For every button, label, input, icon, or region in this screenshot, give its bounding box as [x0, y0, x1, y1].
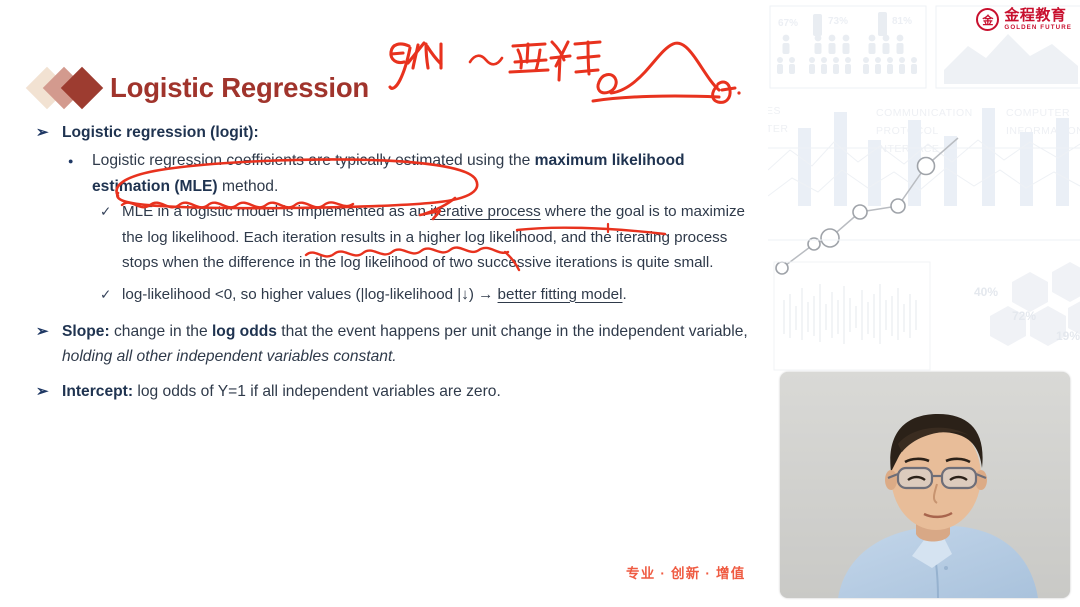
handwriting-bell-curve — [593, 43, 741, 102]
bullet-text: Slope: change in the log odds that the e… — [62, 323, 748, 365]
svg-text:INTERFACE: INTERFACE — [876, 143, 939, 155]
bullet-intercept: ➢ Intercept: log odds of Y=1 if all inde… — [30, 379, 760, 404]
svg-text:PROTOCOL: PROTOCOL — [876, 125, 939, 137]
svg-text:19%: 19% — [1056, 329, 1080, 343]
svg-text:73%: 73% — [828, 16, 848, 27]
bullet-text: MLE in a logistic model is implemented a… — [122, 203, 745, 271]
diamond-decoration-icon — [32, 66, 110, 110]
bullet-log-likelihood-negative: ✓ log-likelihood <0, so higher values (|… — [30, 282, 760, 308]
svg-text:40%: 40% — [974, 285, 998, 299]
arrow-bullet-icon: ➢ — [36, 120, 49, 145]
check-bullet-icon: ✓ — [100, 199, 111, 225]
svg-text:67%: 67% — [778, 18, 798, 29]
handwriting-tilde — [470, 56, 502, 65]
webcam-image — [780, 372, 1070, 598]
svg-text:72%: 72% — [1012, 309, 1036, 323]
arrow-bullet-icon: ➢ — [36, 379, 49, 404]
handwriting-formula — [390, 43, 441, 88]
svg-text:ES: ES — [768, 105, 781, 117]
bullet-slope: ➢ Slope: change in the log odds that the… — [30, 319, 760, 369]
handwriting-chinese — [510, 42, 600, 80]
brand-name-en: GOLDEN FUTURE — [1004, 25, 1072, 31]
seal-icon: 金 — [976, 8, 999, 31]
svg-text:COMMUNICATION: COMMUNICATION — [876, 107, 973, 119]
bullet-text: Logistic regression coefficients are typ… — [92, 152, 685, 195]
slide-footer-slogan: 专业 · 创新 · 增值 — [626, 562, 745, 582]
dot-bullet-icon: ● — [68, 149, 73, 175]
bullet-coefficients-mle: ● Logistic regression coefficients are t… — [30, 148, 760, 199]
slide-body: ➢ Logistic regression (logit): ● Logisti… — [30, 120, 760, 407]
slide-title-row: Logistic Regression — [32, 66, 369, 110]
bullet-text: Intercept: log odds of Y=1 if all indepe… — [62, 383, 501, 400]
bullet-mle-iterative-process: ✓ MLE in a logistic model is implemented… — [30, 199, 760, 276]
svg-text:81%: 81% — [892, 16, 912, 27]
svg-text:TER: TER — [768, 123, 789, 135]
check-bullet-icon: ✓ — [100, 282, 111, 308]
brand-logo: 金 金程教育 GOLDEN FUTURE — [976, 8, 1072, 31]
bullet-text: log-likelihood <0, so higher values (|lo… — [122, 286, 627, 303]
background-infographic-art: 67%73%81% ES TER COMMUNICATION PROTOCOL … — [768, 0, 1080, 378]
presentation-screen: Logistic Regression ➢ Logistic regressio… — [0, 0, 1080, 607]
slide-canvas: Logistic Regression ➢ Logistic regressio… — [0, 0, 768, 607]
bullet-logistic-regression-logit: ➢ Logistic regression (logit): — [30, 120, 760, 145]
brand-name-cn: 金程教育 — [1004, 8, 1072, 23]
right-panel: 67%73%81% ES TER COMMUNICATION PROTOCOL … — [768, 0, 1080, 607]
page-title: Logistic Regression — [110, 72, 369, 104]
bullet-text: Logistic regression (logit): — [62, 124, 259, 141]
svg-text:COMPUTER: COMPUTER — [1006, 107, 1070, 119]
instructor-video-feed[interactable] — [780, 372, 1070, 598]
arrow-bullet-icon: ➢ — [36, 319, 49, 344]
